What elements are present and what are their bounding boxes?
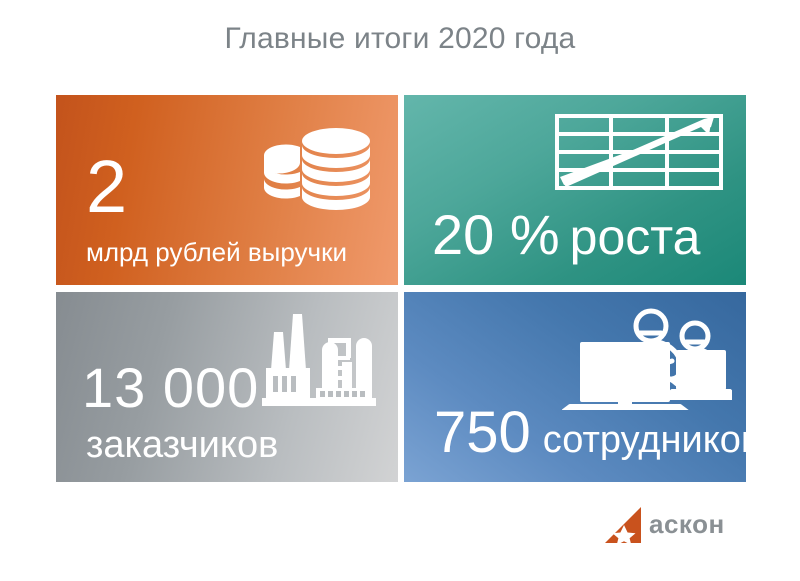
stat-number-growth: 20 %	[432, 207, 560, 263]
factory-icon	[260, 310, 378, 410]
stat-card-clients: 13 000 заказчиков	[56, 292, 398, 482]
stat-number-staff: 750	[434, 404, 531, 462]
stat-card-staff: 750 сотрудников	[404, 292, 746, 482]
coin-stack-icon	[260, 125, 376, 217]
stat-label-staff: сотрудников	[543, 421, 746, 459]
ascon-triangle-logo-icon	[603, 505, 645, 545]
stat-label-growth: роста	[570, 212, 701, 262]
people-at-computers-icon	[562, 302, 732, 410]
stat-number-revenue: 2	[86, 150, 127, 224]
ascon-logo: аскон	[603, 503, 755, 547]
stat-label-clients: заказчиков	[86, 426, 278, 464]
ascon-wordmark-text: аскон	[649, 511, 725, 539]
staff-text-row: 750 сотрудников	[434, 404, 746, 462]
page-title: Главные итоги 2020 года	[0, 22, 800, 56]
growth-text-row: 20 % роста	[432, 207, 700, 263]
stat-number-clients: 13 000	[82, 360, 259, 416]
stat-label-revenue: млрд рублей выручки	[86, 239, 347, 265]
infographic-canvas: Главные итоги 2020 года 2 млрд рублей вы…	[0, 0, 800, 581]
growth-chart-icon	[554, 113, 724, 191]
ascon-wordmark: аскон	[649, 511, 753, 539]
stat-card-growth: 20 % роста	[404, 95, 746, 285]
stat-card-revenue: 2 млрд рублей выручки	[56, 95, 398, 285]
